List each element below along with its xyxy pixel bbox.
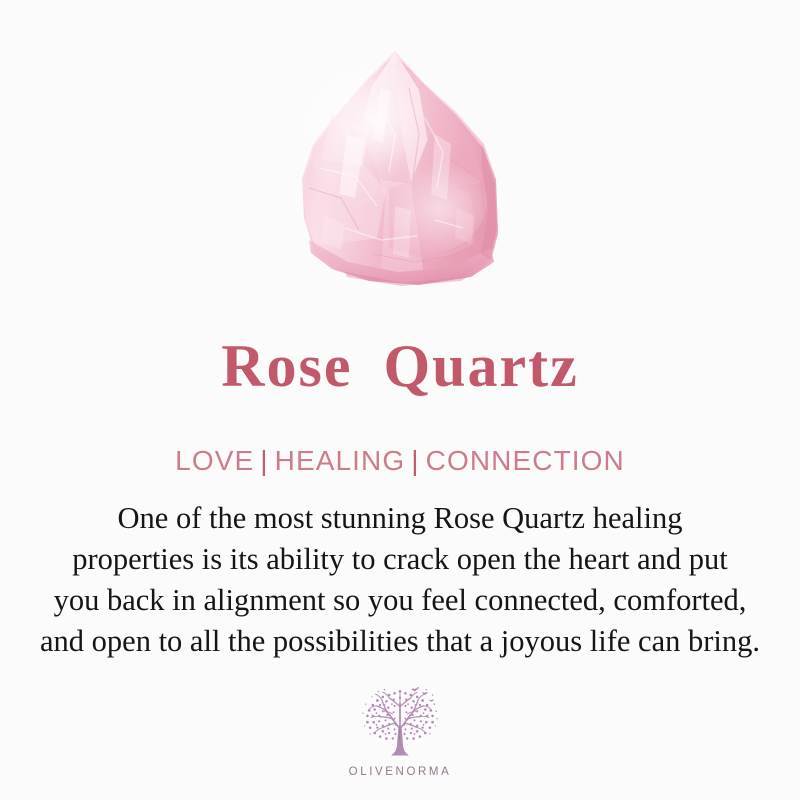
keyword-healing: HEALING (275, 445, 406, 476)
brand-logo: OLIVENORMA (0, 686, 800, 778)
tree-of-life-icon (354, 686, 446, 762)
description-line: properties is its ability to crack open … (30, 539, 770, 580)
product-description: One of the most stunning Rose Quartz hea… (30, 498, 770, 662)
description-line: One of the most stunning Rose Quartz hea… (30, 498, 770, 539)
keyword-love: LOVE (175, 445, 254, 476)
description-line: and open to all the possibilities that a… (30, 621, 770, 662)
description-line: you back in alignment so you feel connec… (30, 580, 770, 621)
product-title: Rose Quartz (0, 333, 800, 399)
rose-quartz-crystal-image (285, 48, 515, 288)
keyword-separator-1: | (254, 445, 274, 476)
keyword-tagline: LOVE|HEALING|CONNECTION (0, 444, 800, 478)
keyword-connection: CONNECTION (426, 445, 625, 476)
product-info-card: Rose Quartz LOVE|HEALING|CONNECTION One … (0, 0, 800, 800)
crystal-image-area (0, 0, 800, 300)
keyword-separator-2: | (405, 445, 425, 476)
brand-wordmark: OLIVENORMA (349, 766, 452, 778)
